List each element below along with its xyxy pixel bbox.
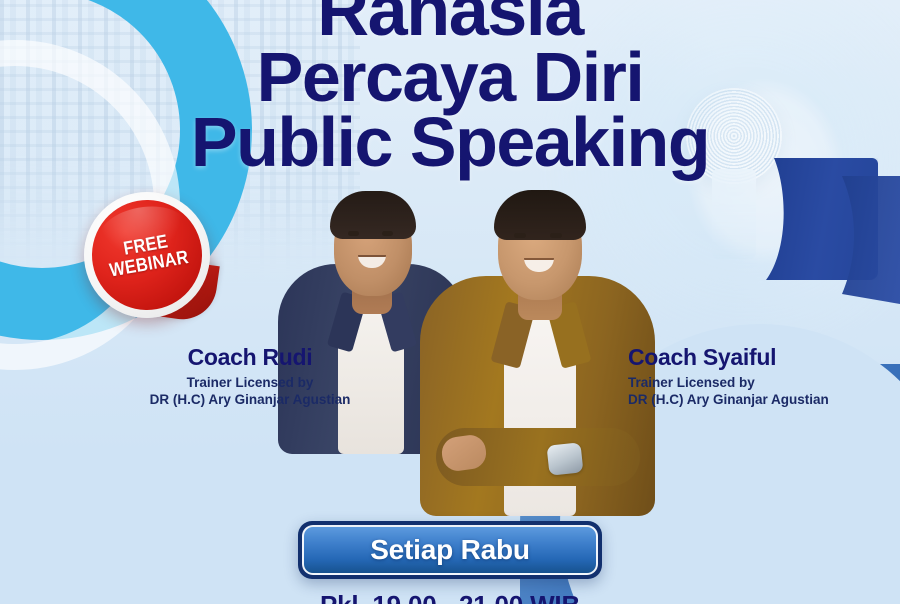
speaker-name-block-syaiful: Coach Syaiful Trainer Licensed by DR (H.… [628,345,829,408]
schedule-time-row: Pkl. 19.00 - 21.00 WIB [0,592,900,604]
rudi-eye-left [348,231,359,236]
schedule-day-label: Setiap Rabu [370,534,530,566]
webinar-poster: Rahasia Percaya Diri Public Speaking FRE… [0,0,900,604]
speaker-name-syaiful: Coach Syaiful [628,345,829,371]
schedule-time-label: Pkl. 19.00 - 21.00 WIB [0,592,900,604]
speaker-subtitle-rudi-line2: DR (H.C) Ary Ginanjar Agustian [120,391,380,408]
badge-text: FREE WEBINAR [104,229,189,281]
speaker-subtitle-syaiful-line1: Trainer Licensed by [628,374,829,391]
rudi-hair [330,191,416,239]
speaker-photo-coach-syaiful [420,116,655,516]
speaker-name-rudi: Coach Rudi [120,345,380,371]
speaker-subtitle-rudi-line1: Trainer Licensed by [120,374,380,391]
schedule-day-button-inner: Setiap Rabu [302,525,598,575]
rudi-eye-right [382,231,393,236]
schedule-day-button[interactable]: Setiap Rabu [298,521,602,579]
syaiful-hair [494,190,586,240]
free-webinar-badge: FREE WEBINAR [84,192,210,318]
syaiful-eye-right [550,233,562,238]
speaker-name-block-rudi: Coach Rudi Trainer Licensed by DR (H.C) … [120,345,380,408]
syaiful-eye-left [514,233,526,238]
speaker-subtitle-syaiful-line2: DR (H.C) Ary Ginanjar Agustian [628,391,829,408]
syaiful-wristwatch [547,442,584,475]
